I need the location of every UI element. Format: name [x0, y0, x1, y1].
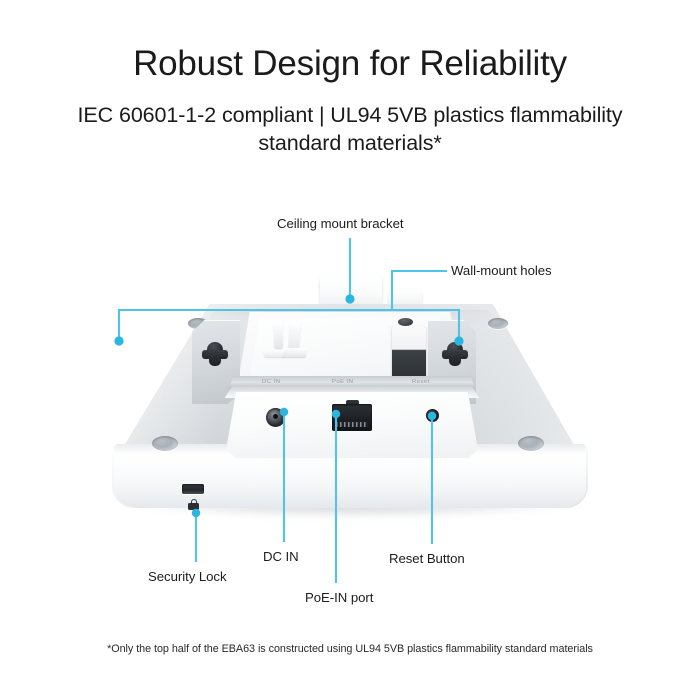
- callout-label-ceiling-mount-bracket: Ceiling mount bracket: [277, 216, 404, 231]
- reset-button-pinhole: [426, 409, 439, 422]
- bracket-latch: [392, 326, 426, 384]
- page-title: Robust Design for Reliability: [0, 44, 700, 83]
- callout-label-poe-in-port: PoE-IN port: [305, 590, 373, 605]
- poe-in-port-pins: [336, 422, 368, 427]
- bracket-latch-knob: [398, 318, 413, 326]
- callout-label-reset-button: Reset Button: [389, 551, 465, 566]
- callout-label-dc-in: DC IN: [263, 549, 299, 564]
- corner-screw-recess-top-right: [488, 318, 508, 329]
- port-emboss-poe-in: PoE IN: [332, 379, 353, 384]
- port-emboss-dc-in: DC IN: [262, 379, 280, 384]
- subtitle-line-1: IEC 60601-1-2 compliant | UL94 5VB plast…: [78, 103, 623, 127]
- keyhole-stem: [209, 354, 221, 366]
- security-lock-slot: [182, 484, 204, 494]
- corner-screw-recess-bottom-right: [518, 436, 544, 451]
- padlock-body: [188, 503, 199, 510]
- product-image-access-point: DC IN PoE IN Reset: [96, 296, 604, 528]
- page-subtitle: IEC 60601-1-2 compliant | UL94 5VB plast…: [50, 102, 650, 158]
- corner-screw-recess-bottom-left: [152, 436, 178, 451]
- callout-label-wall-mount-holes: Wall-mount holes: [451, 263, 552, 278]
- wall-mount-hole-right: [442, 342, 468, 368]
- mount-plate-rib: [282, 348, 306, 357]
- padlock-icon: [188, 498, 199, 510]
- keyhole-stem: [449, 354, 461, 366]
- wall-mount-hole-left: [202, 342, 228, 368]
- footnote-text: *Only the top half of the EBA63 is const…: [0, 643, 700, 655]
- port-emboss-reset: Reset: [412, 379, 430, 384]
- slide-canvas: Robust Design for Reliability IEC 60601-…: [0, 0, 700, 700]
- subtitle-line-2: standard materials*: [258, 131, 441, 155]
- mount-plate-rib: [274, 322, 283, 348]
- dc-in-port: [266, 408, 285, 427]
- mount-plate-rib: [264, 350, 284, 357]
- callout-label-security-lock: Security Lock: [148, 569, 227, 584]
